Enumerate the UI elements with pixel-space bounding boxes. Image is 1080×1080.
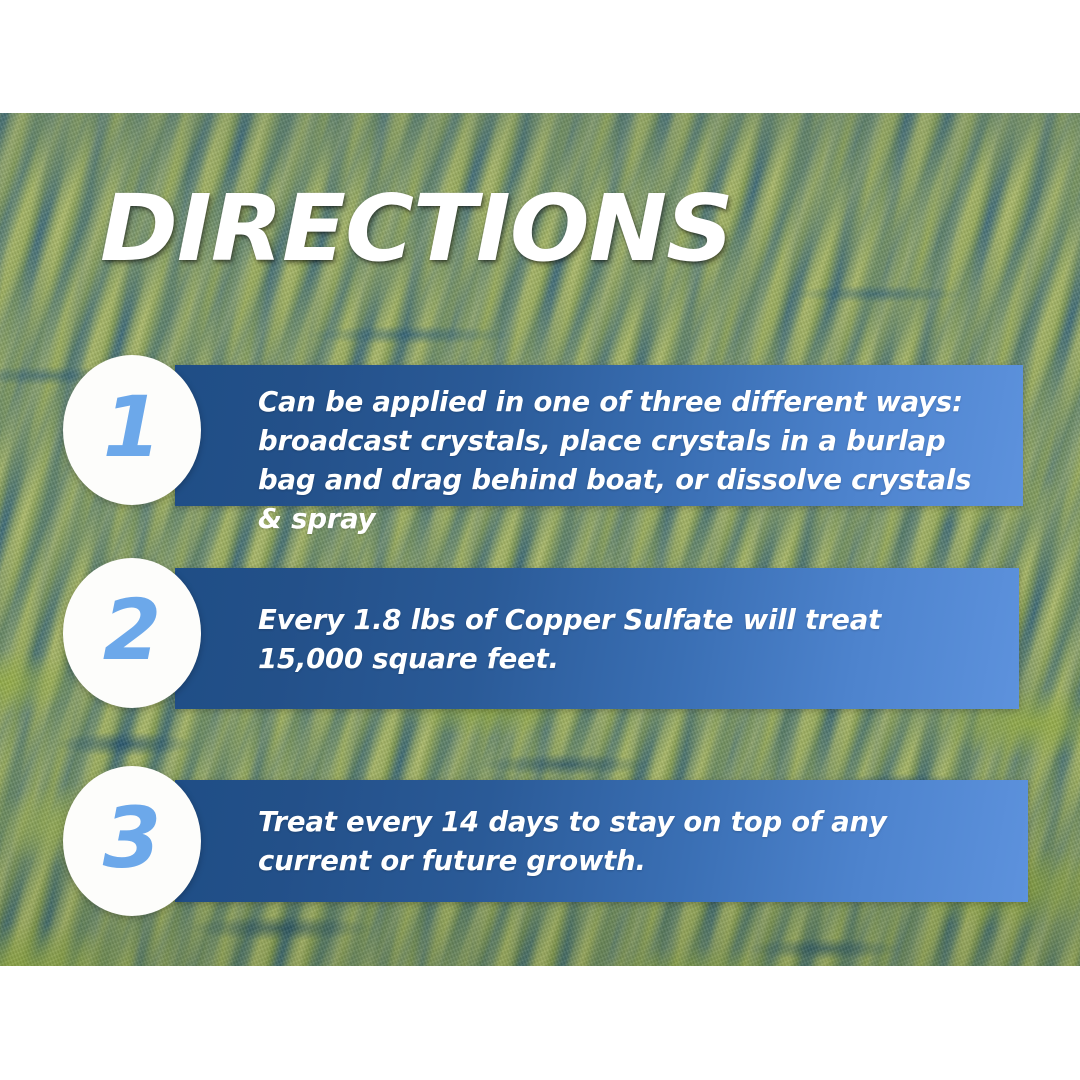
step-text-3: Treat every 14 days to stay on top of an… <box>258 803 988 881</box>
step-number-3: 3 <box>103 796 161 880</box>
step-number-badge-2: 2 <box>63 558 201 708</box>
step-number-2: 2 <box>103 588 161 672</box>
page-title: DIRECTIONS <box>100 183 733 275</box>
step-number-badge-1: 1 <box>63 355 201 505</box>
step-text-1: Can be applied in one of three different… <box>258 383 988 539</box>
infographic-canvas: DIRECTIONS Can be applied in one of thre… <box>0 0 1080 1080</box>
step-number-1: 1 <box>103 385 161 469</box>
step-number-badge-3: 3 <box>63 766 201 916</box>
step-text-2: Every 1.8 lbs of Copper Sulfate will tre… <box>258 601 988 679</box>
